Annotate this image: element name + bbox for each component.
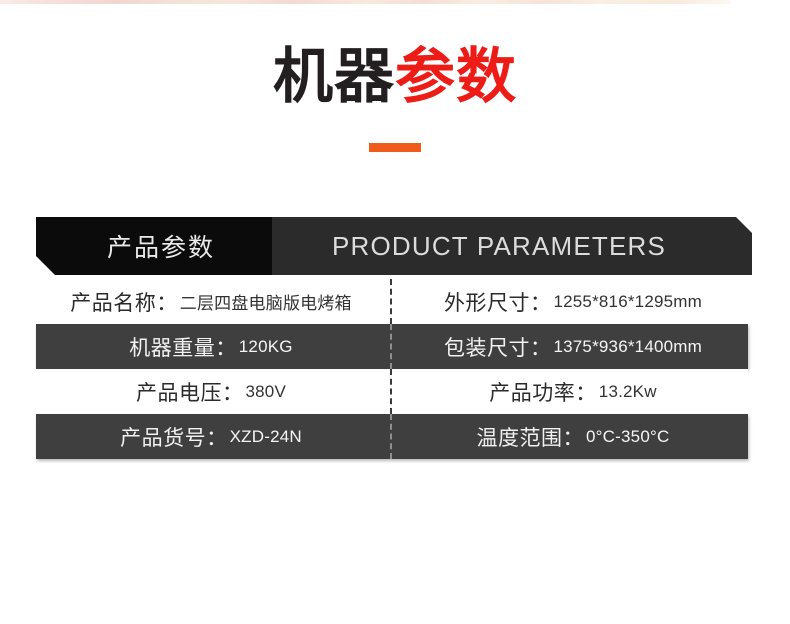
spec-value: 二层四盘电脑版电烤箱 xyxy=(180,289,352,314)
spec-label: 包装尺寸： xyxy=(444,332,552,362)
spec-value: 380V xyxy=(245,382,286,402)
column-divider xyxy=(390,369,392,414)
spec-value: 0°C-350°C xyxy=(586,427,669,447)
spec-label: 温度范围： xyxy=(477,422,585,452)
spec-cell-right: 产品功率： 13.2Kw xyxy=(392,369,748,414)
spec-label: 产品电压： xyxy=(136,377,244,407)
spec-cell-right: 外形尺寸： 1255*816*1295mm xyxy=(392,279,748,324)
section-header-left-label: 产品参数 xyxy=(107,228,215,264)
column-divider xyxy=(390,279,392,324)
spec-label: 产品功率： xyxy=(489,377,597,407)
spec-label: 机器重量： xyxy=(129,332,237,362)
title-underline-bar xyxy=(369,143,421,152)
spec-label: 产品名称： xyxy=(70,287,178,317)
section-header-right-label: PRODUCT PARAMETERS xyxy=(332,231,666,262)
spec-value: 1255*816*1295mm xyxy=(553,292,702,312)
table-row: 产品电压： 380V 产品功率： 13.2Kw xyxy=(36,369,748,414)
spec-cell-right: 温度范围： 0°C-350°C xyxy=(392,414,748,459)
spec-value: 1375*936*1400mm xyxy=(553,337,702,357)
spec-label: 产品货号： xyxy=(120,422,228,452)
top-decorative-strip xyxy=(0,0,731,4)
spec-cell-left: 机器重量： 120KG xyxy=(36,324,392,369)
section-header-left: 产品参数 xyxy=(36,217,272,275)
spec-label: 外形尺寸： xyxy=(444,287,552,317)
product-parameters-table: 产品名称： 二层四盘电脑版电烤箱 外形尺寸： 1255*816*1295mm 机… xyxy=(36,279,748,459)
spec-cell-left: 产品名称： 二层四盘电脑版电烤箱 xyxy=(36,279,392,324)
spec-value: 13.2Kw xyxy=(599,382,657,402)
spec-cell-left: 产品货号： XZD-24N xyxy=(36,414,392,459)
section-header-right: PRODUCT PARAMETERS xyxy=(272,217,752,275)
column-divider xyxy=(390,414,392,459)
page-title: 机器参数 xyxy=(0,46,790,109)
section-header-bar: 产品参数 PRODUCT PARAMETERS xyxy=(36,217,752,275)
spec-value: XZD-24N xyxy=(230,427,302,447)
table-row: 产品名称： 二层四盘电脑版电烤箱 外形尺寸： 1255*816*1295mm xyxy=(36,279,748,324)
spec-cell-right: 包装尺寸： 1375*936*1400mm xyxy=(392,324,748,369)
table-row: 机器重量： 120KG 包装尺寸： 1375*936*1400mm xyxy=(36,324,748,369)
page-title-primary: 机器 xyxy=(273,42,395,112)
column-divider xyxy=(390,324,392,369)
spec-cell-left: 产品电压： 380V xyxy=(36,369,392,414)
table-row: 产品货号： XZD-24N 温度范围： 0°C-350°C xyxy=(36,414,748,459)
page-title-accent: 参数 xyxy=(395,42,517,112)
spec-value: 120KG xyxy=(239,337,293,357)
